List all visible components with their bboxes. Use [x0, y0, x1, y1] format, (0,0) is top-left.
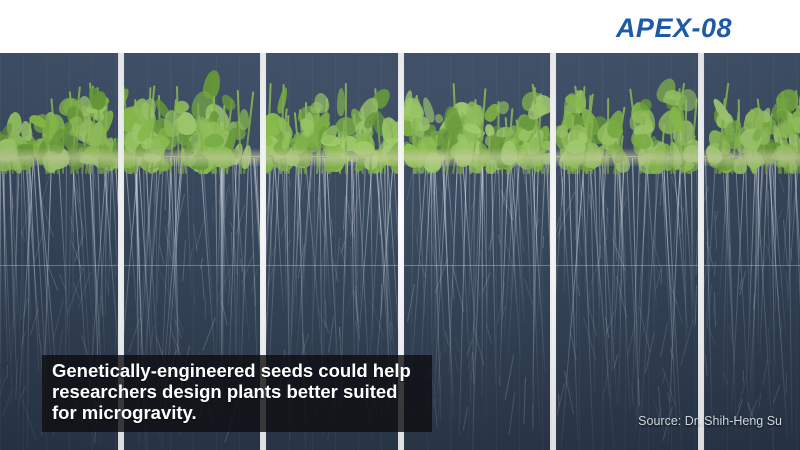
seed-line [124, 148, 260, 166]
plate-divider [550, 52, 556, 450]
seed-line [266, 148, 398, 166]
caption-text: Genetically-engineered seeds could help … [52, 361, 422, 424]
plate-gridline [124, 265, 260, 266]
video-frame: APEX-08 Genetically-engineered seeds cou… [0, 0, 800, 450]
plate-gridline [404, 265, 550, 266]
plate-gridline [556, 265, 698, 266]
plate-gridline [704, 265, 800, 266]
plate-panel [704, 52, 800, 450]
plate-divider [698, 52, 704, 450]
program-title: APEX-08 [616, 13, 732, 44]
root-zone [556, 158, 698, 450]
seed-line [556, 148, 698, 166]
plate-gridline [266, 265, 398, 266]
plate-panel [556, 52, 698, 450]
caption-box: Genetically-engineered seeds could help … [42, 355, 432, 432]
seed-line [704, 148, 800, 166]
seed-line [404, 148, 550, 166]
seed-line [0, 148, 118, 166]
title-band: APEX-08 [0, 0, 800, 53]
source-credit: Source: Dr. Shih-Heng Su [638, 414, 782, 428]
root-zone [704, 158, 800, 450]
plate-gridline [0, 265, 118, 266]
